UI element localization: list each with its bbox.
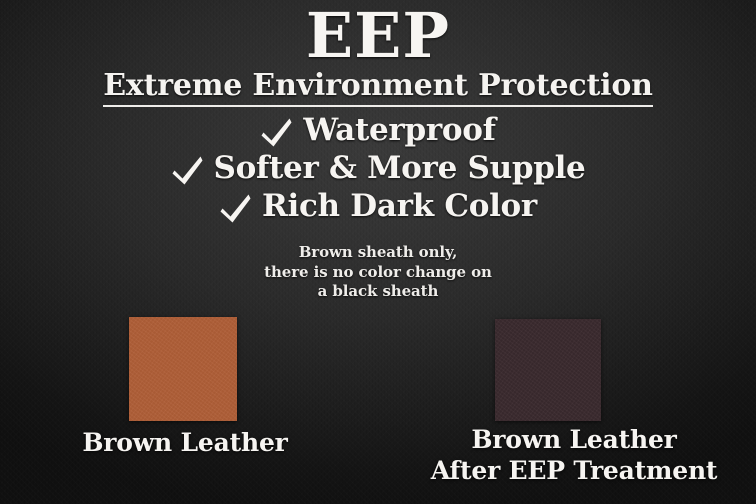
- disclaimer-note: Brown sheath only, there is no color cha…: [0, 243, 756, 302]
- benefit-label: Rich Dark Color: [262, 188, 537, 224]
- page-title: EEP: [0, 3, 756, 68]
- note-line-2: there is no color change on: [0, 263, 756, 283]
- benefit-item-rich-dark-color: Rich Dark Color: [0, 188, 756, 224]
- swatch-brown-leather-after-eep-treatment: [495, 319, 601, 421]
- poster-content: EEP Extreme Environment Protection Water…: [0, 0, 756, 504]
- subtitle-container: Extreme Environment Protection: [0, 68, 756, 107]
- note-line-3: a black sheath: [0, 282, 756, 302]
- eep-product-poster: EEP Extreme Environment Protection Water…: [0, 0, 756, 504]
- caption-brown-leather: Brown Leather: [20, 428, 350, 459]
- benefit-item-softer-more-supple: Softer & More Supple: [0, 150, 756, 186]
- note-line-1: Brown sheath only,: [0, 243, 756, 263]
- leather-grain-texture: [495, 319, 601, 421]
- caption-brown-leather-after-eep-treatment: Brown Leather After EEP Treatment: [400, 425, 748, 486]
- benefits-list: Waterproof Softer & More Supple Rich Dar…: [0, 112, 756, 226]
- checkmark-icon: [171, 153, 205, 187]
- caption-line-1: Brown Leather: [400, 425, 748, 456]
- caption-line-1: Brown Leather: [20, 428, 350, 459]
- leather-grain-texture: [129, 317, 237, 421]
- page-subtitle: Extreme Environment Protection: [103, 68, 653, 107]
- benefit-label: Softer & More Supple: [214, 150, 586, 186]
- checkmark-icon: [219, 191, 253, 225]
- caption-line-2: After EEP Treatment: [400, 456, 748, 487]
- checkmark-icon: [260, 115, 294, 149]
- benefit-label: Waterproof: [303, 112, 495, 148]
- benefit-item-waterproof: Waterproof: [0, 112, 756, 148]
- swatch-brown-leather: [129, 317, 237, 421]
